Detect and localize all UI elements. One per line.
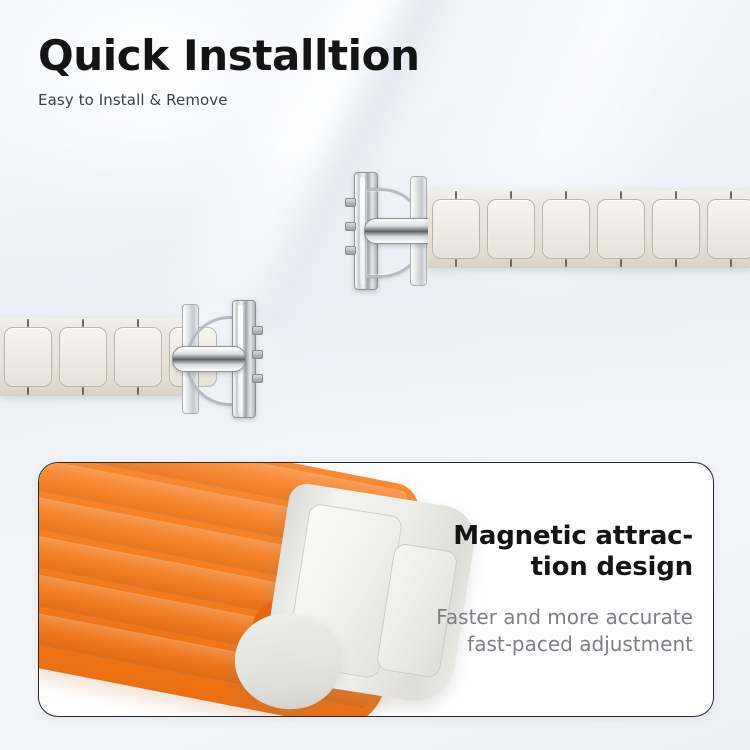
watch-band-bottom-left	[0, 300, 300, 424]
feature-title-line2: tion design	[531, 552, 693, 582]
feature-card: Magnetic attrac- tion design Faster and …	[38, 462, 714, 717]
band-link	[432, 199, 480, 259]
header: Quick Installtion Easy to Install & Remo…	[38, 34, 420, 109]
band-link	[487, 199, 535, 259]
band-link	[597, 199, 645, 259]
page-subtitle: Easy to Install & Remove	[38, 91, 420, 109]
band-link	[4, 327, 52, 387]
connector-pin-icon	[252, 374, 263, 383]
feature-desc-line1: Faster and more accurate	[436, 605, 693, 629]
feature-text-block: Magnetic attrac- tion design Faster and …	[363, 521, 693, 658]
band-link	[707, 199, 750, 259]
band-link	[59, 327, 107, 387]
feature-description: Faster and more accurate fast-paced adju…	[363, 604, 693, 658]
product-marketing-page: Quick Installtion Easy to Install & Remo…	[0, 0, 750, 750]
spring-bar-icon	[172, 346, 246, 372]
page-title: Quick Installtion	[38, 34, 420, 78]
metal-connector-top	[352, 170, 426, 290]
connector-pin-icon	[345, 246, 356, 255]
metal-connector-bottom	[182, 298, 256, 418]
spring-bar-icon	[364, 218, 438, 244]
connector-pin-icon	[345, 222, 356, 231]
connector-pin-icon	[252, 350, 263, 359]
feature-title: Magnetic attrac- tion design	[363, 521, 693, 582]
connector-pin-icon	[345, 198, 356, 207]
feature-desc-line2: fast-paced adjustment	[467, 632, 693, 656]
band-link	[652, 199, 700, 259]
band-link	[542, 199, 590, 259]
band-strip	[0, 318, 186, 396]
feature-title-line1: Magnetic attrac-	[453, 521, 693, 551]
connector-pin-icon	[252, 326, 263, 335]
band-link	[114, 327, 162, 387]
band-strip	[428, 190, 750, 268]
watch-band-top-right	[352, 172, 750, 296]
